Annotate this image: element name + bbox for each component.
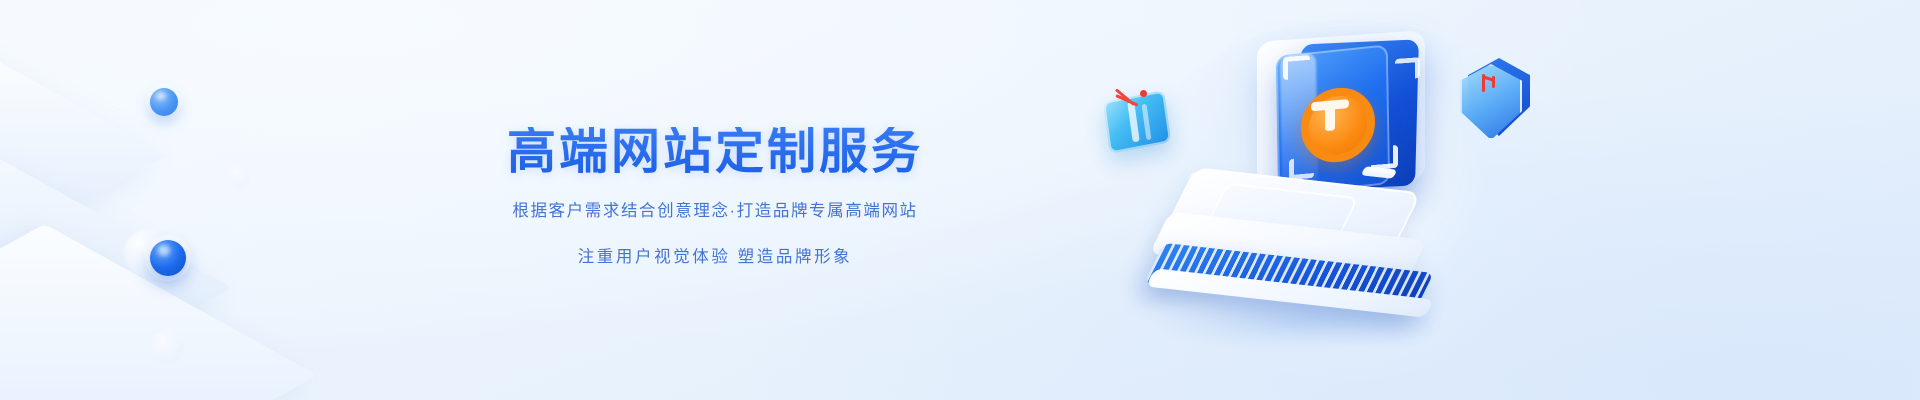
- card-bracket-bottom-left: [1289, 157, 1314, 180]
- soft-sphere-faint: [150, 330, 184, 364]
- left-decoration-scene: [0, 0, 330, 400]
- hero-banner: 高端网站定制服务 根据客户需求结合创意理念·打造品牌专属高端网站 注重用户视觉体…: [0, 0, 1920, 400]
- card-bracket-top-left: [1283, 55, 1310, 80]
- soft-sphere-small: [228, 166, 250, 188]
- cyan-cube-icon: [1106, 96, 1168, 148]
- banner-headline: 高端网站定制服务: [507, 127, 923, 178]
- banner-subtitle-line-1: 根据客户需求结合创意理念·打造品牌专属高端网站: [512, 196, 917, 227]
- banner-copy: 高端网站定制服务 根据客户需求结合创意理念·打造品牌专属高端网站 注重用户视觉体…: [330, 0, 1100, 400]
- iso-platform-mid: [0, 136, 232, 393]
- banner-subtitle-line-2: 注重用户视觉体验 塑造品牌形象: [578, 242, 853, 273]
- blue-sphere-bottom: [150, 240, 186, 276]
- server-device-illustration: [1130, 180, 1460, 350]
- iso-platform-lower: [0, 224, 317, 400]
- antenna-icon: [1116, 84, 1150, 102]
- iso-platform-upper: [0, 39, 168, 231]
- shield-icon: [1460, 58, 1532, 142]
- right-illustration-scene: [1090, 0, 1650, 400]
- soft-sphere-white: [124, 230, 170, 276]
- blue-sphere-top: [150, 88, 178, 116]
- hero-card: [1275, 40, 1445, 200]
- card-bracket-top-right: [1395, 57, 1420, 80]
- shield-check-glyph: [1480, 74, 1500, 94]
